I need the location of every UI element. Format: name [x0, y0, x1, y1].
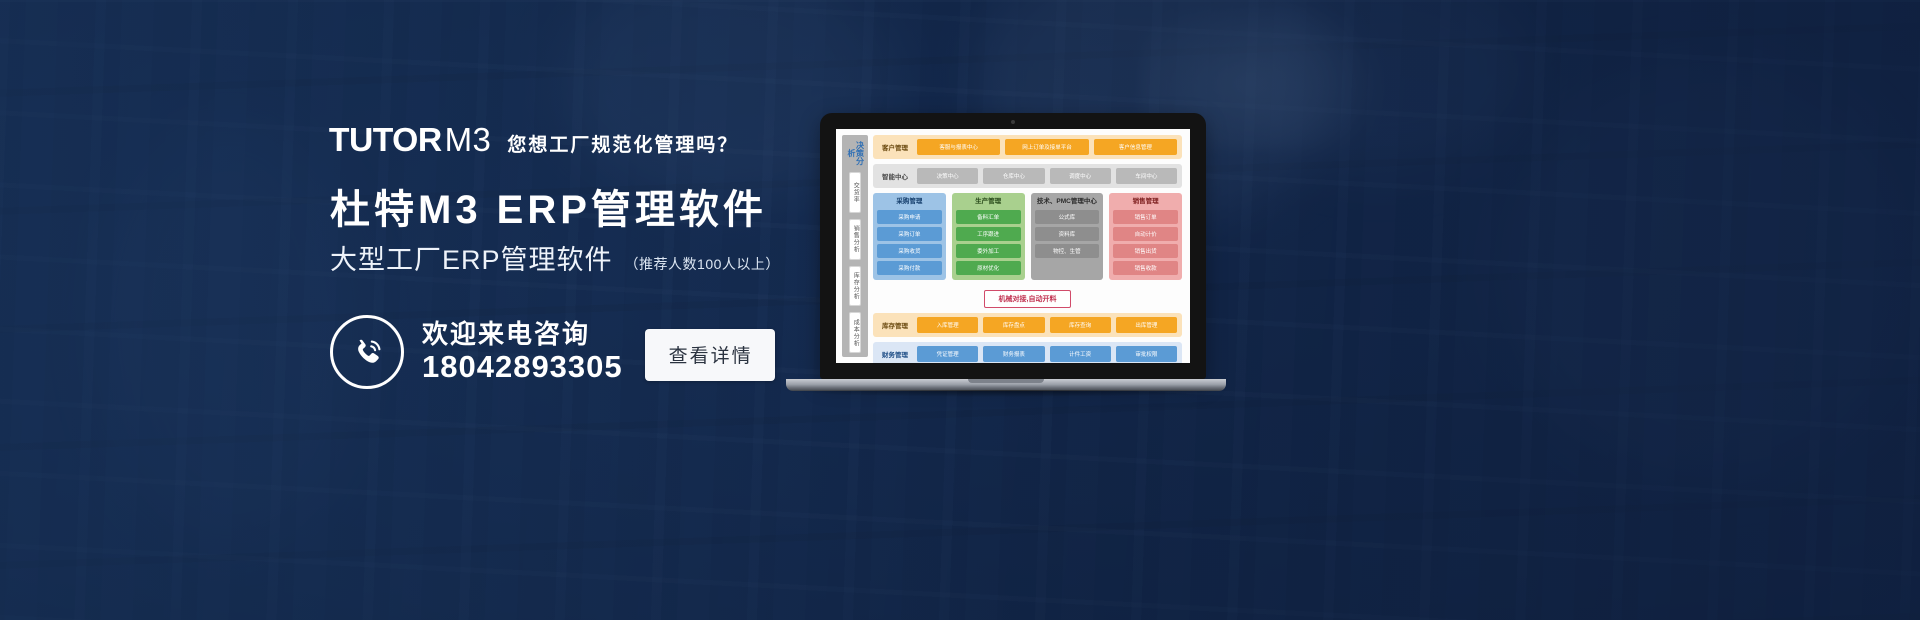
erp-sidebar-item: 销售分析 — [849, 219, 862, 260]
contact-welcome: 欢迎来电咨询 — [422, 320, 623, 349]
erp-column-item: 物控、生管 — [1035, 244, 1100, 258]
erp-column-item: 销售收款 — [1113, 261, 1178, 275]
erp-row-title: 库存管理 — [878, 320, 912, 330]
erp-chip: 客户信息管理 — [1094, 139, 1177, 155]
erp-column-item: 采购收货 — [877, 244, 942, 258]
headline: 杜特M3 ERP管理软件 — [330, 177, 767, 235]
erp-chip: 入库管理 — [917, 317, 978, 333]
erp-chip: 凭证管理 — [917, 346, 978, 362]
erp-row-title: 财务管理 — [878, 349, 912, 359]
erp-row-intelligence: 智能中心 决策中心 仓库中心 调度中心 车间中心 — [873, 164, 1182, 188]
subline-main: 大型工厂ERP管理软件 — [330, 238, 613, 277]
erp-sidebar-item: 库存分析 — [849, 266, 862, 307]
erp-chip: 财务报表 — [983, 346, 1044, 362]
erp-column-item: 公式库 — [1035, 210, 1100, 224]
brand-logo-m3: M3 — [445, 121, 492, 159]
laptop-shadow — [780, 390, 1232, 397]
erp-column-item: 备料汇单 — [956, 210, 1021, 224]
erp-column-title: 技术、PMC管理中心 — [1035, 197, 1100, 207]
contact-text: 欢迎来电咨询 18042893305 — [422, 320, 623, 384]
erp-sidebar-title: 决策分析 — [847, 139, 864, 166]
erp-column-title: 销售管理 — [1113, 197, 1178, 207]
erp-column-title: 生产管理 — [956, 197, 1021, 207]
erp-column-item: 采购付款 — [877, 261, 942, 275]
erp-column-item: 销售订单 — [1113, 210, 1178, 224]
erp-column-item: 销售出货 — [1113, 244, 1178, 258]
erp-column-item: 采购申请 — [877, 210, 942, 224]
erp-column-item: 资料库 — [1035, 227, 1100, 241]
erp-column-item: 原材优化 — [956, 261, 1021, 275]
erp-row-customer: 客户管理 客服与报表中心 网上订单及接单平台 客户信息管理 — [873, 135, 1182, 159]
erp-chip: 审批权限 — [1116, 346, 1177, 362]
erp-column-purchase: 采购管理 采购申请 采购订单 采购收货 采购付款 — [873, 193, 946, 280]
webcam-icon — [1011, 120, 1015, 124]
promo-banner: TUTOR M3 您想工厂规范化管理吗？ 杜特M3 ERP管理软件 大型工厂ER… — [0, 0, 1920, 620]
erp-chip: 计件工资 — [1050, 346, 1111, 362]
laptop-lid: 决策分析 交货率 销售分析 库存分析 成本分析 客户管理 客服与报表中心 网上订… — [820, 113, 1206, 379]
erp-sidebar-item: 成本分析 — [849, 312, 862, 353]
subline-row: 大型工厂ERP管理软件 （推荐人数100人以上） — [330, 238, 780, 277]
erp-row-inventory: 库存管理 入库管理 库存盘点 库存查询 出库管理 — [873, 313, 1182, 337]
contact-phone-number: 18042893305 — [422, 350, 623, 384]
erp-chip: 库存查询 — [1050, 317, 1111, 333]
erp-sidebar-item: 交货率 — [849, 172, 862, 213]
view-details-button[interactable]: 查看详情 — [645, 329, 775, 381]
erp-row-finance: 财务管理 凭证管理 财务报表 计件工资 审批权限 — [873, 342, 1182, 363]
erp-chip: 客服与报表中心 — [917, 139, 1000, 155]
erp-column-item: 自动计价 — [1113, 227, 1178, 241]
erp-chip: 仓库中心 — [983, 168, 1044, 184]
erp-column-item: 委外加工 — [956, 244, 1021, 258]
erp-column-item: 采购订单 — [877, 227, 942, 241]
erp-chip: 库存盘点 — [983, 317, 1044, 333]
erp-sidebar: 决策分析 交货率 销售分析 库存分析 成本分析 — [842, 135, 868, 357]
erp-highlight-box: 机械对接,自动开料 — [984, 290, 1072, 308]
erp-chip: 调度中心 — [1050, 168, 1111, 184]
brand-logo-tutor: TUTOR — [329, 121, 442, 159]
erp-module-columns: 采购管理 采购申请 采购订单 采购收货 采购付款 生产管理 备料汇单 工序跟进 … — [873, 193, 1182, 280]
erp-chip: 出库管理 — [1116, 317, 1177, 333]
erp-main-column: 客户管理 客服与报表中心 网上订单及接单平台 客户信息管理 智能中心 决策中心 … — [873, 135, 1182, 357]
erp-architecture-diagram: 决策分析 交货率 销售分析 库存分析 成本分析 客户管理 客服与报表中心 网上订… — [836, 129, 1190, 363]
brand-kicker-row: TUTOR M3 您想工厂规范化管理吗？ — [330, 121, 738, 159]
erp-column-item: 工序跟进 — [956, 227, 1021, 241]
subline-note: （推荐人数100人以上） — [625, 254, 780, 274]
erp-row-title: 客户管理 — [878, 142, 912, 152]
erp-highlight-row: 机械对接,自动开料 — [873, 290, 1182, 308]
laptop-mockup: 决策分析 交货率 销售分析 库存分析 成本分析 客户管理 客服与报表中心 网上订… — [786, 113, 1226, 403]
erp-chip: 车间中心 — [1116, 168, 1177, 184]
erp-column-production: 生产管理 备料汇单 工序跟进 委外加工 原材优化 — [952, 193, 1025, 280]
erp-row-title: 智能中心 — [878, 171, 912, 181]
erp-column-title: 采购管理 — [877, 197, 942, 207]
phone-ring-icon — [330, 315, 404, 389]
erp-column-sales: 销售管理 销售订单 自动计价 销售出货 销售收款 — [1109, 193, 1182, 280]
erp-chip: 决策中心 — [917, 168, 978, 184]
erp-column-tech-pmc: 技术、PMC管理中心 公式库 资料库 物控、生管 — [1031, 193, 1104, 280]
erp-chip: 网上订单及接单平台 — [1005, 139, 1088, 155]
laptop-screen: 决策分析 交货率 销售分析 库存分析 成本分析 客户管理 客服与报表中心 网上订… — [836, 129, 1190, 363]
brand-kicker-text: 您想工厂规范化管理吗？ — [507, 130, 738, 157]
contact-row: 欢迎来电咨询 18042893305 查看详情 — [330, 315, 775, 389]
